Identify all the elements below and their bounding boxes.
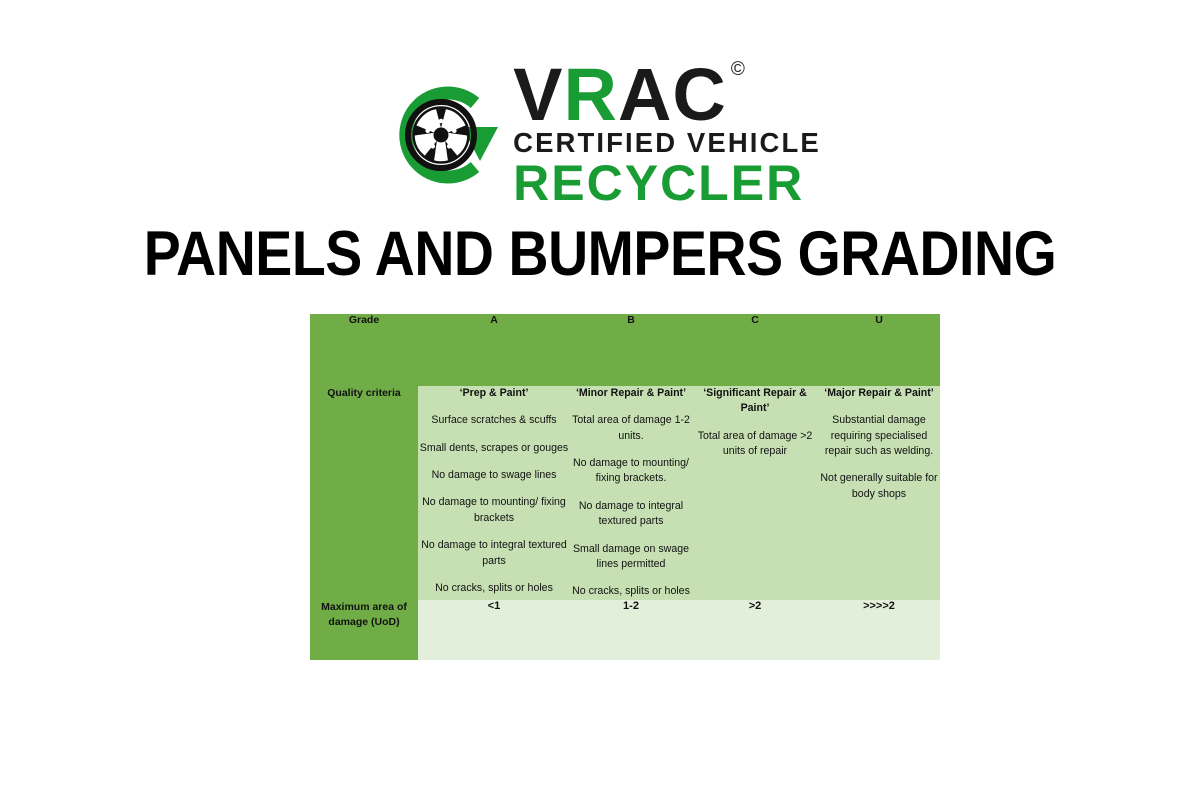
copyright-icon: © (731, 60, 746, 79)
criteria-point: Substantial damage requiring specialised… (818, 413, 940, 459)
criteria-point: No cracks, splits or holes (418, 581, 570, 596)
header-cell-u: U (818, 314, 940, 386)
criteria-point: No damage to integral textured parts (570, 499, 692, 530)
brand-wordmark-recycler: RECYCLER (513, 158, 804, 208)
criteria-cell-u: ‘Major Repair & Paint’ Substantial damag… (818, 386, 940, 600)
grading-table: Grade A B C U Quality criteria ‘Prep & P… (310, 314, 940, 660)
header-cell-grade: Grade (310, 314, 418, 386)
criteria-point: Not generally suitable for body shops (818, 471, 940, 502)
brand-tagline: CERTIFIED VEHICLE (513, 129, 821, 157)
max-value-c: >2 (692, 600, 818, 660)
criteria-heading-u: ‘Major Repair & Paint’ (818, 386, 940, 401)
criteria-point: No damage to swage lines (418, 468, 570, 483)
max-value-b: 1-2 (570, 600, 692, 660)
criteria-cell-a: ‘Prep & Paint’ Surface scratches & scuff… (418, 386, 570, 600)
wordmark-ac: AC (618, 58, 727, 132)
criteria-point: Small dents, scrapes or gouges (418, 441, 570, 456)
table-header-row: Grade A B C U (310, 314, 940, 386)
brand-wordmark-vrac: VRAC© (513, 58, 746, 124)
wordmark-r: R (564, 58, 618, 132)
criteria-cell-c: ‘Significant Repair & Paint’ Total area … (692, 386, 818, 600)
page-title: PANELS AND BUMPERS GRADING (72, 218, 1128, 290)
table-row-quality-criteria: Quality criteria ‘Prep & Paint’ Surface … (310, 386, 940, 600)
row-label-quality-criteria: Quality criteria (310, 386, 418, 600)
wordmark-v: V (513, 58, 563, 132)
criteria-point: Surface scratches & scuffs (418, 413, 570, 428)
criteria-point: No damage to integral textured parts (418, 538, 570, 569)
criteria-cell-b: ‘Minor Repair & Paint’ Total area of dam… (570, 386, 692, 600)
header-cell-a: A (418, 314, 570, 386)
criteria-point: Total area of damage 1-2 units. (570, 413, 692, 444)
criteria-heading-a: ‘Prep & Paint’ (418, 386, 570, 401)
brand-logo: VRAC© CERTIFIED VEHICLE RECYCLER (0, 58, 1200, 208)
row-label-maximum-area: Maximum area of damage (UoD) (310, 600, 418, 660)
header-cell-b: B (570, 314, 692, 386)
max-value-a: <1 (418, 600, 570, 660)
criteria-point: Small damage on swage lines permitted (570, 542, 692, 573)
criteria-point: No damage to mounting/ fixing brackets (418, 495, 570, 526)
criteria-heading-b: ‘Minor Repair & Paint’ (570, 386, 692, 401)
criteria-point: No damage to mounting/ fixing brackets. (570, 456, 692, 487)
criteria-point: Total area of damage >2 units of repair (692, 429, 818, 460)
criteria-heading-c: ‘Significant Repair & Paint’ (692, 386, 818, 417)
table-row-maximum-area: Maximum area of damage (UoD) <1 1-2 >2 >… (310, 600, 940, 660)
criteria-point: No cracks, splits or holes (570, 584, 692, 599)
recycling-wheel-logo-icon (379, 69, 507, 197)
max-value-u: >>>>2 (818, 600, 940, 660)
header-cell-c: C (692, 314, 818, 386)
